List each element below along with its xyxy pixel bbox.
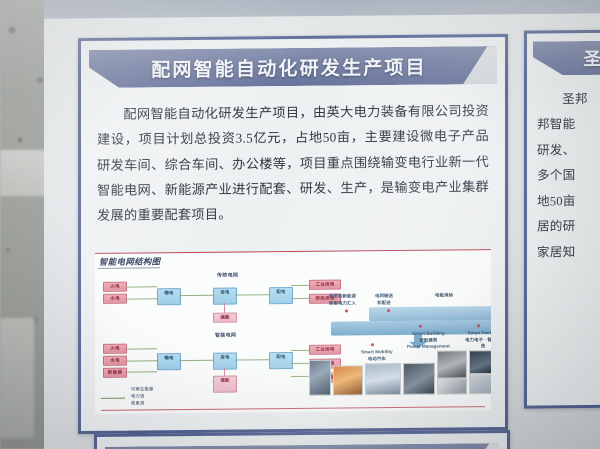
right-panel-line: 多个国 xyxy=(537,163,600,189)
diagram-node-source: 水电 xyxy=(103,356,127,366)
flow-label-input: 传统和新能源 新型电力汇入 xyxy=(329,293,356,306)
diagram-node-process: 输电 xyxy=(157,288,181,305)
diagram-node-process: 配电 xyxy=(269,287,293,304)
banner-notch-right xyxy=(463,46,497,84)
diagram-photo-thumb xyxy=(469,374,491,394)
flow-marker-dot xyxy=(371,343,374,346)
diagram-photo-thumb xyxy=(365,363,401,395)
diagram-node-process: 配电 xyxy=(269,352,293,369)
diagram-node-source: 火电 xyxy=(103,282,127,292)
flow-marker-dot xyxy=(345,309,348,312)
diagram-photo-thumb xyxy=(469,350,491,374)
right-panel-line: 居的研 xyxy=(537,214,600,240)
project-panel-right: 圣邦 圣邦 邦智能 研发、 多个国 地50亩 居的研 家居知 xyxy=(524,29,600,408)
diagram-node-storage: 储能 xyxy=(213,376,237,393)
diagram-legend-renewable: 可再生能源 xyxy=(131,386,153,392)
banner-notch-right xyxy=(465,443,499,449)
diagram-photo-thumb xyxy=(437,378,467,394)
diagram-photo-thumb xyxy=(333,365,363,395)
bottom-panel-banner: 智能全健系统研发与制造项目 xyxy=(105,443,499,449)
right-panel-line: 研发、 xyxy=(537,137,600,163)
main-panel-body-text: 配网智能自动化研发生产项目，由英大电力装备有限公司投资建设，项目计划总投资3.5… xyxy=(97,98,489,228)
diagram-title: 智能电网结构图 xyxy=(99,255,160,268)
diagram-node-process: 输电 xyxy=(157,353,181,370)
right-panel-body: 圣邦 邦智能 研发、 多个国 地50亩 居的研 家居知 xyxy=(537,87,600,266)
main-panel-title: 配网智能自动化研发生产项目 xyxy=(151,52,427,82)
flow-label-mobility: Smart Mobility 电动汽车 xyxy=(361,349,393,363)
diagram-node-source: 新能源 xyxy=(103,368,127,378)
main-panel-banner: 配网智能自动化研发生产项目 xyxy=(89,46,497,88)
diagram-legend-info-flow: 信息流 xyxy=(131,400,144,406)
diagram-section-label-traditional: 传统电网 xyxy=(217,272,238,279)
diagram-node-process: 变电 xyxy=(213,288,237,305)
diagram-node-storage: 储能 xyxy=(213,313,237,323)
smart-grid-diagram: 智能电网结构图 传统电网 智能电网 火电 水电 输电 变电 配电 工业用电 居民… xyxy=(95,249,491,414)
right-panel-line: 圣邦 xyxy=(537,87,600,113)
flow-label-factory: Smart Factory 电力电子 · 智能制造 xyxy=(463,330,491,350)
right-panel-line: 邦智能 xyxy=(537,112,600,138)
diagram-section-label-smart: 智能电网 xyxy=(215,332,236,339)
right-panel-line: 家居知 xyxy=(537,239,600,265)
diagram-node-source: 火电 xyxy=(103,344,127,354)
flow-label-transmission: 电网输送 和配送 xyxy=(375,293,393,306)
diagram-photo-thumb xyxy=(437,350,467,378)
right-panel-banner: 圣邦 xyxy=(533,40,600,75)
diagram-canvas: 传统电网 智能电网 火电 水电 输电 变电 配电 工业用电 居民用电 储能 xyxy=(95,266,491,414)
flow-label-consumption: 电能消纳 xyxy=(435,292,453,299)
diagram-node-source: 水电 xyxy=(103,294,127,304)
flow-label-building: Smart Building 智能建筑 Power Management xyxy=(407,330,450,350)
screenshot-stage: 配网智能自动化研发生产项目 配网智能自动化研发生产项目，由英大电力装备有限公司投… xyxy=(0,0,600,449)
right-panel-line: 地50亩 xyxy=(537,188,600,214)
project-panel-main: 配网智能自动化研发生产项目 配网智能自动化研发生产项目，由英大电力装备有限公司投… xyxy=(78,34,508,434)
ground-shadow-strip xyxy=(0,318,34,438)
diagram-legend-power-flow: 电力流 xyxy=(131,393,144,399)
right-panel-title: 圣邦 xyxy=(584,45,600,71)
diagram-node-process: 变电 xyxy=(213,353,237,370)
diagram-photo-thumb xyxy=(309,360,331,396)
project-panel-bottom: 智能全健系统研发与制造项目 xyxy=(94,430,510,449)
diagram-photo-thumb xyxy=(403,363,435,395)
